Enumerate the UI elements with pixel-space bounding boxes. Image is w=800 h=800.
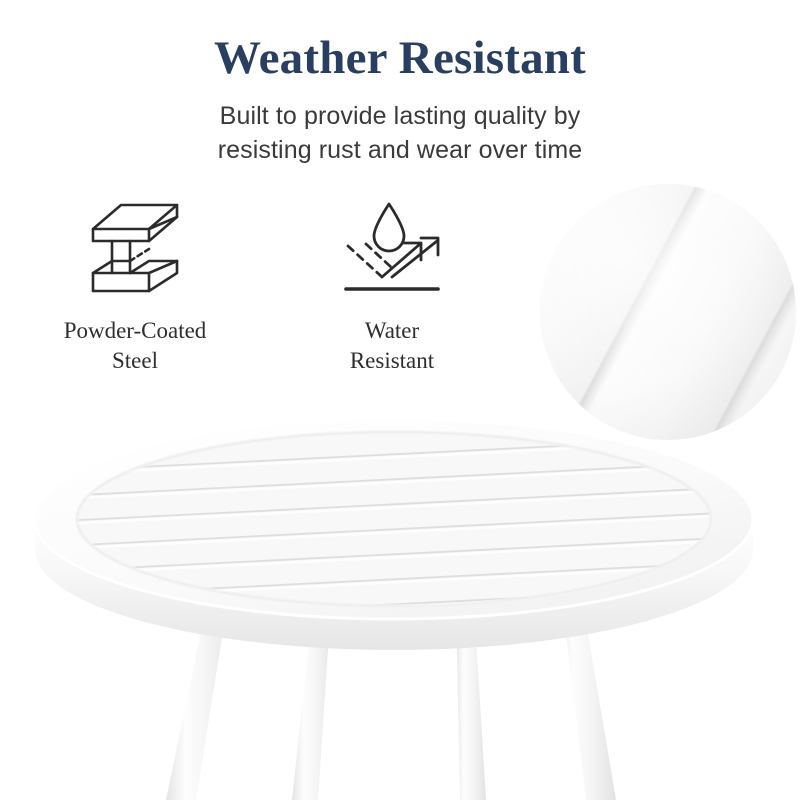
- product-feature-graphic: Weather Resistant Built to provide lasti…: [0, 0, 800, 800]
- page-title: Weather Resistant: [0, 30, 800, 86]
- product-table-image: [0, 400, 800, 800]
- feature-label-steel-line-2: Steel: [25, 346, 245, 376]
- subtitle-line-2: resisting rust and wear over time: [100, 133, 700, 167]
- feature-water-resistant: Water Resistant: [282, 195, 502, 376]
- feature-icon-wrap: [25, 195, 245, 300]
- feature-label-water-line-2: Resistant: [282, 346, 502, 376]
- feature-label-water: Water Resistant: [282, 316, 502, 376]
- feature-label-steel: Powder-Coated Steel: [25, 316, 245, 376]
- feature-label-steel-line-1: Powder-Coated: [25, 316, 245, 346]
- water-droplet-repel-icon: [340, 198, 444, 298]
- feature-icon-wrap: [282, 195, 502, 300]
- subtitle-line-1: Built to provide lasting quality by: [100, 99, 700, 133]
- page-subtitle: Built to provide lasting quality by resi…: [100, 99, 700, 167]
- feature-powder-coated-steel: Powder-Coated Steel: [25, 195, 245, 376]
- feature-label-water-line-1: Water: [282, 316, 502, 346]
- i-beam-steel-icon: [87, 199, 183, 297]
